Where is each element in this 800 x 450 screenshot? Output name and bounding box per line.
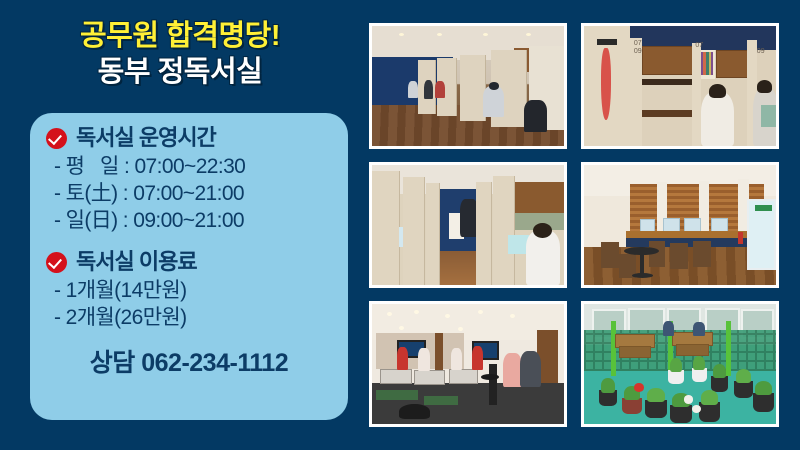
partition-shape [403,177,425,285]
headline-line-1: 공무원 합격명당! [0,22,360,51]
list-item: - 일(日) : 09:00~21:00 [54,207,348,234]
student-figure [408,81,418,98]
student-head [757,80,772,93]
picnic-bench-leg-shape [619,346,652,358]
list-item: - 1개월(14만원) [54,277,348,304]
picnic-bench-leg-shape [676,344,709,357]
desk-shape [638,110,696,117]
photo-image: 헬스장 러닝머신과 운동기구 [372,304,564,424]
student-figure [424,80,434,99]
ceiling-light-icon [445,314,450,318]
flower-pot-shape [734,381,753,398]
plant-shape [670,358,682,372]
photo-rooftop-garden: 옥상 정원과 벤치, 화분 [581,301,779,427]
left-content-column: 공무원 합격명당! 동부 정독서실 독서실 운영시간 - 평 일 : 07:00… [0,0,360,450]
photo-fitness-gym: 헬스장 러닝머신과 운동기구 [369,301,567,427]
photo-locker-desk-unit: 07 09 07 09 사물함과 책상이 있는 개인 열람석, 우산 걸이 [581,23,779,149]
umbrella-icon [601,48,611,120]
photo-image: 열람석 사이 복도 [372,165,564,285]
flower-pot-shape [711,376,728,392]
locker-number-label: 09 [757,48,765,55]
chair-shape [601,242,618,268]
flower-pot-shape [668,370,683,384]
page-title: 공무원 합격명당! 동부 정독서실 [0,22,360,87]
gym-user-figure [397,347,409,370]
fire-extinguisher-icon [738,232,744,244]
info-panel: 독서실 운영시간 - 평 일 : 07:00~22:30 - 토(土) : 07… [30,113,348,420]
photo-corridor: 열람석 사이 복도 [369,162,567,288]
list-item: - 토(土) : 07:00~21:00 [54,180,348,207]
treadmill-shape [414,370,445,385]
fees-block: 독서실 이용료 - 1개월(14만원) - 2개월(26만원) [30,251,348,331]
wood-panel-shape [514,182,564,213]
treadmill-shape [449,369,478,384]
gym-user-figure [503,353,522,387]
partition-shape [476,182,492,285]
exercise-bike-shape [489,364,497,405]
refrigerator-label [755,205,772,211]
student-figure [435,81,445,98]
fees-list: - 1개월(14만원) - 2개월(26만원) [54,277,348,331]
partition-shape [692,43,702,146]
operating-hours-list: - 평 일 : 07:00~22:30 - 토(土) : 07:00~21:00… [54,153,348,234]
gym-user-figure [418,348,430,371]
exercise-machine-shape [399,404,430,420]
advertisement-banner: 공무원 합격명당! 동부 정독서실 독서실 운영시간 - 평 일 : 07:00… [0,0,800,450]
ceiling-light-icon [526,33,531,36]
hook-shape [597,39,616,45]
flower-pot-shape [670,405,691,423]
list-item: - 2개월(26만원) [54,304,348,331]
gym-user-figure [520,351,541,387]
gym-user-figure [472,346,484,370]
plant-shape [736,369,751,383]
photo-image: 07 09 07 09 사물함과 책상이 있는 개인 열람석, 우산 걸이 [584,26,776,146]
check-circle-icon [46,128,67,149]
photo-image: 휴게실 및 스터디 카운터 [584,165,776,285]
partition-shape [372,171,400,285]
headline-line-2: 동부 정독서실 [0,58,360,87]
chair-shape [670,243,687,269]
gym-mat-shape [424,396,459,404]
wood-cabinet-shape [642,46,694,74]
flower-pot-shape [645,400,666,418]
flower-pot-shape [753,393,774,412]
flower-pot-shape [622,398,641,415]
desk-shape [638,79,696,85]
student-head [709,84,726,98]
list-item: - 평 일 : 07:00~22:30 [54,153,348,180]
operating-hours-block: 독서실 운영시간 - 평 일 : 07:00~22:30 - 토(土) : 07… [30,127,348,234]
partition-shape [493,176,515,285]
partition-shape [426,183,440,285]
fees-heading: 독서실 이용료 [46,251,348,273]
student-figure [483,86,504,117]
chair-shape [693,241,710,267]
photo-image: 옥상 정원과 벤치, 화분 [584,304,776,424]
photo-image: 독서실 1인 칸막이 열람석과 네이비 벽 [372,26,564,146]
ceiling-light-icon [399,326,404,330]
student-head [489,82,499,89]
visitor-figure [663,321,675,337]
fence-post-shape [726,321,731,376]
photo-lounge-cafeteria: 휴게실 및 스터디 카운터 [581,162,779,288]
plant-shape [647,388,664,402]
photo-grid: 독서실 1인 칸막이 열람석과 네이비 벽 [369,23,779,427]
partition-shape [460,55,486,121]
flower-shape [634,383,644,391]
counter-top-shape [626,231,764,238]
locker-number-label: 07 [634,40,642,47]
flower-shape [684,395,694,403]
check-circle-icon [46,252,67,273]
treadmill-shape [380,369,413,384]
operating-hours-heading: 독서실 운영시간 [46,127,348,149]
student-figure [524,100,547,131]
plant-shape [693,356,705,370]
plant-shape [713,364,726,378]
towel-shape [761,105,776,127]
fence-post-shape [611,321,616,376]
table-base-shape [632,273,653,278]
operating-hours-heading-label: 독서실 운영시간 [76,127,216,149]
photo-study-cubicles-row: 독서실 1인 칸막이 열람석과 네이비 벽 [369,23,567,149]
visitor-figure [693,322,705,336]
plant-shape [755,381,772,395]
ceiling-light-icon [478,310,483,314]
student-figure [526,231,561,285]
plant-shape [701,390,718,404]
locker-number-label: 07 [695,42,703,49]
student-figure [701,92,734,146]
bike-seat-shape [481,374,498,380]
fees-heading-label: 독서실 이용료 [76,251,197,273]
gym-user-figure [451,348,463,370]
locker-number-label: 09 [634,48,642,55]
plant-shape [601,378,614,392]
flower-pot-shape [699,402,720,421]
contact-phone[interactable]: 상담 062-234-1112 [30,343,348,379]
gym-mat-shape [376,390,418,400]
ceiling-light-icon [510,314,515,318]
